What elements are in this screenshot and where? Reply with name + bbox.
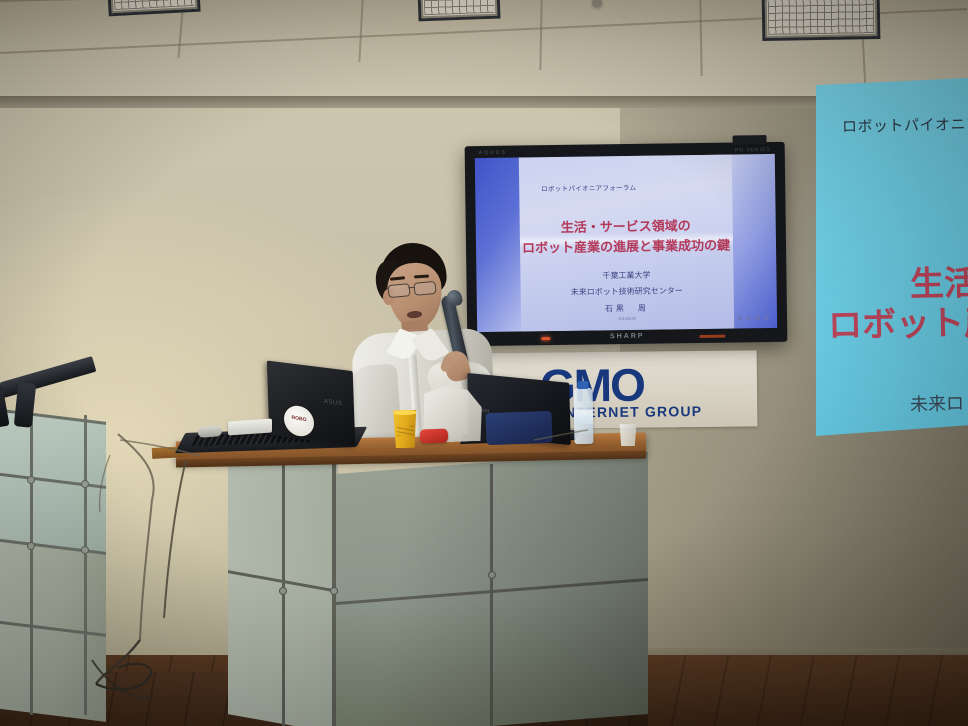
slide-affiliation-line1: 千葉工業大学 bbox=[602, 270, 650, 282]
monitor-screen: ロボットパイオニアフォーラム 生活・サービス領域の ロボット産業の進展と事業成功… bbox=[475, 154, 777, 332]
ceiling-speaker-icon bbox=[592, 0, 602, 8]
laptop-sticker-text: ROBO bbox=[284, 414, 314, 425]
asus-laptop[interactable]: ASUS ROBO bbox=[180, 366, 370, 456]
next-slide-icon[interactable] bbox=[764, 315, 769, 320]
menu-icon[interactable] bbox=[755, 315, 760, 320]
projection-header-text: ロボットパイオニアフォ bbox=[842, 112, 968, 137]
red-presenter-remote[interactable] bbox=[420, 429, 448, 444]
slide-header-text: ロボットパイオニアフォーラム bbox=[541, 182, 636, 193]
cup-rim bbox=[392, 410, 418, 415]
slide-title-line2: ロボット産業の進展と事業成功の鍵 bbox=[522, 235, 730, 257]
slide-title-line1: 生活・サービス領域の bbox=[561, 215, 691, 236]
monitor-power-led bbox=[541, 337, 550, 340]
slide-presenter-name: 石黒 周 bbox=[605, 303, 649, 315]
monitor-bezel-label-left: AQUOS bbox=[479, 150, 507, 156]
slide-footer-text: 2014/5/20 bbox=[618, 316, 636, 321]
water-bottle bbox=[574, 388, 594, 444]
lens-right bbox=[413, 281, 436, 296]
ceiling-vent-right bbox=[762, 0, 881, 41]
bottle-cap bbox=[577, 381, 588, 389]
monitor-bezel-label-right: PN SERIES bbox=[735, 147, 771, 153]
yellow-paper-cup bbox=[392, 410, 419, 448]
monitor-brand-logo: SHARP bbox=[610, 333, 645, 340]
lens-left bbox=[388, 283, 411, 298]
mouse[interactable] bbox=[198, 425, 222, 438]
clear-cup bbox=[618, 424, 638, 446]
presentation-room-photo: ロボットパイオニアフォ 生活 ロボット産業 未来ロ GMO INTERNET G… bbox=[0, 0, 968, 726]
left-glass-cabinet bbox=[0, 415, 110, 726]
bottle-label bbox=[574, 410, 593, 424]
projection-affiliation-text: 未来ロ bbox=[910, 389, 965, 416]
prev-slide-icon[interactable] bbox=[737, 315, 742, 320]
ceiling-vent-center bbox=[417, 0, 500, 21]
sharp-display-monitor: AQUOS PN SERIES ロボットパイオニアフォーラム 生活・サービス領域… bbox=[465, 142, 788, 346]
cup-handwriting bbox=[397, 426, 414, 436]
slideshow-controls[interactable] bbox=[737, 315, 769, 320]
monitor-indicator-strip bbox=[699, 335, 725, 338]
microphone-head-icon bbox=[445, 289, 463, 308]
pen-tool-icon[interactable] bbox=[746, 315, 751, 320]
podium-cabinet bbox=[228, 452, 648, 726]
projection-title-line2: ロボット産業 bbox=[828, 294, 968, 347]
navy-bag bbox=[485, 411, 552, 445]
ceiling-vent-left bbox=[107, 0, 200, 16]
slide-affiliation-line2: 未来ロボット技術研究センター bbox=[571, 285, 683, 298]
monitor-top-mount bbox=[732, 135, 766, 144]
wall-projection-screen: ロボットパイオニアフォ 生活 ロボット産業 未来ロ bbox=[816, 78, 968, 436]
